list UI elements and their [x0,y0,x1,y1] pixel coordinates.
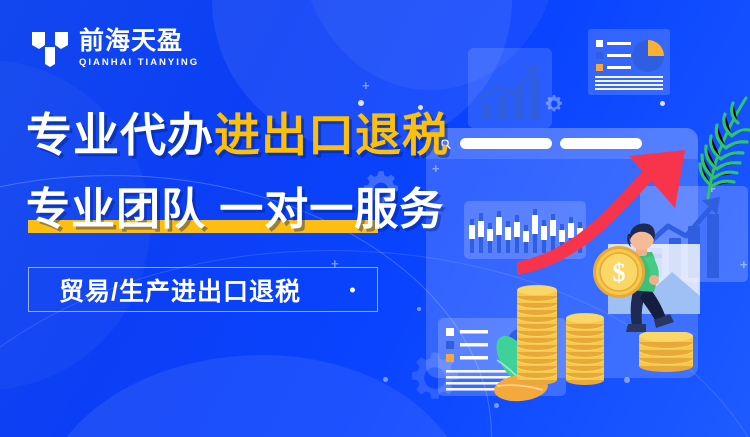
subtitle-text: 贸易/生产进出口退税 [59,272,301,308]
coin-stack-tall [516,284,558,391]
growth-bar-chart-card [468,48,552,128]
svg-text:$: $ [613,258,626,287]
brand-name-cn: 前海天盈 [79,28,199,54]
headline-yellow-part: 进出口退税 [214,109,449,161]
brand-name-en: QIANHAI TIANYING [79,57,199,68]
coin-stack-short [565,312,605,391]
brand-logo[interactable]: 前海天盈 QIANHAI TIANYING [30,28,199,69]
headline-line-2: 专业团队 一对一服务 [26,188,444,232]
search-input[interactable] [460,138,552,149]
filter-input[interactable] [560,138,642,149]
promo-banner: + + + + + [0,0,750,437]
brand-logo-text: 前海天盈 QIANHAI TIANYING [79,28,199,69]
report-pie-chart-card [588,29,670,95]
dollar-coin-icon: $ [592,245,646,304]
headline-line-1: 专业代办进出口退税 [26,112,426,158]
tianying-y-mark-icon [30,28,70,68]
palm-leaf-icon [688,92,750,207]
subtitle-box[interactable]: 贸易/生产进出口退税 [28,267,378,312]
headline-block: 专业代办进出口退税 [26,112,426,158]
headline-white-part: 专业代办 [26,109,214,161]
dot-icon [350,287,355,292]
